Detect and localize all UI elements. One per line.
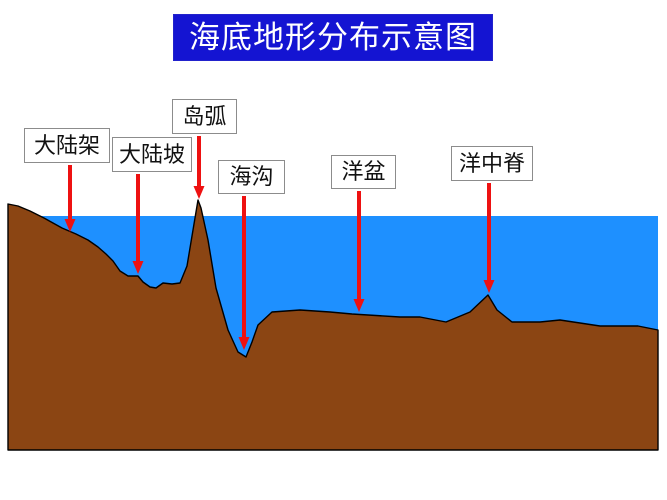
label-island-arc-text: 岛弧 [182,106,226,128]
label-mid-ocean-ridge[interactable]: 洋中脊 [451,146,533,181]
arrow-island-arc [194,136,205,199]
label-island-arc[interactable]: 岛弧 [172,99,237,134]
diagram-canvas: 海底地形分布示意图 大陆架 大陆坡 岛弧 海沟 洋盆 洋中脊 [0,0,667,500]
label-trench[interactable]: 海沟 [218,160,285,194]
label-trench-text: 海沟 [229,166,273,188]
label-ocean-basin-text: 洋盆 [341,161,385,183]
label-continental-slope-text: 大陆坡 [119,144,185,166]
label-ocean-basin[interactable]: 洋盆 [331,155,396,189]
label-continental-slope[interactable]: 大陆坡 [112,137,192,172]
page-title: 海底地形分布示意图 [189,22,477,53]
label-mid-ocean-ridge-text: 洋中脊 [459,153,525,175]
arrow-continental-shelf [65,165,76,232]
label-continental-shelf-text: 大陆架 [34,135,100,157]
diagram-title-banner: 海底地形分布示意图 [173,14,493,61]
seabed-topography-illustration [0,0,667,500]
label-continental-shelf[interactable]: 大陆架 [24,128,110,163]
